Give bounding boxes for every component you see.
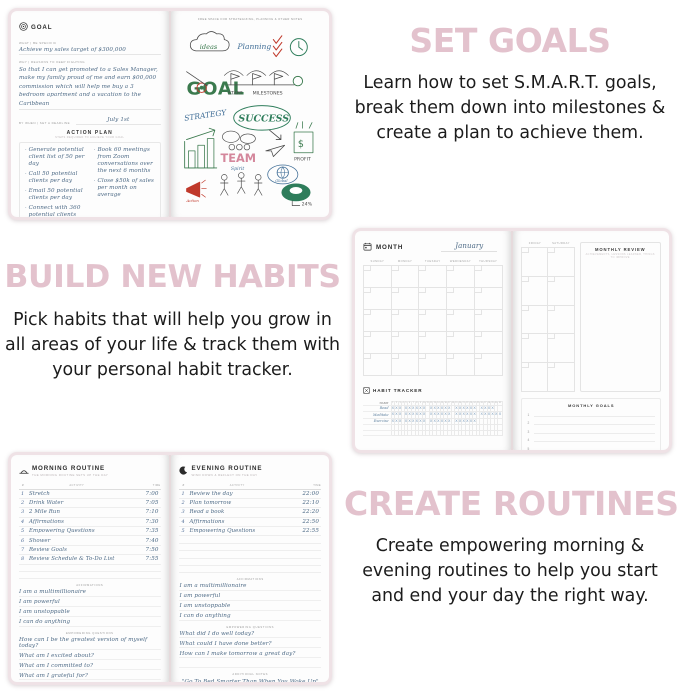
morning-routine-title: MORNING ROUTINE	[32, 465, 108, 472]
routine-time: 22:50	[287, 517, 321, 526]
routine-activity: Review Goals	[27, 545, 127, 554]
routine-activity: Stretch	[27, 489, 127, 498]
routine-number	[179, 551, 187, 558]
routine-number	[179, 558, 187, 565]
calendar-day-cell[interactable]	[447, 354, 475, 376]
habit-tracker-table: HABIT 1 2 3 4 5 6 7 8 9 10 11 12 13 14 1…	[363, 401, 503, 436]
calendar-day-cell[interactable]	[391, 332, 419, 354]
question-item: What did I do well today?	[179, 631, 321, 639]
day-number-box	[475, 354, 482, 359]
affirmation-item: I am powerful	[19, 599, 161, 607]
affirmation-item: I am unstoppable	[179, 603, 321, 611]
day-number-box	[419, 354, 426, 359]
table-row[interactable]	[179, 543, 321, 550]
monthly-goals-title: MONTHLY GOALS	[527, 403, 655, 408]
calendar-day-cell[interactable]	[474, 310, 502, 332]
table-row[interactable]: 2Plan tomorrow22:10	[179, 498, 321, 507]
calendar-day-cell[interactable]	[447, 266, 475, 288]
monthly-review-box[interactable]: MONTHLY REVIEW ACHIEVEMENTS, LESSONS LEA…	[580, 242, 662, 392]
question-item: How can I be the greatest version of mys…	[19, 637, 161, 651]
monthly-review-subtitle: ACHIEVEMENTS, LESSONS LEARNED, THINGS TO…	[585, 253, 657, 259]
routine-time: 22:55	[287, 527, 321, 536]
routine-number	[179, 543, 187, 550]
question-item: What am I excited about?	[19, 653, 161, 661]
habit-tracker-header: HABIT TRACKER	[363, 381, 503, 399]
svg-text:SUCCESS: SUCCESS	[239, 114, 290, 125]
sunrise-icon	[19, 462, 29, 480]
monthly-goals-box: MONTHLY GOALS 1 2 3 4 5 6	[521, 398, 661, 450]
promo-set-goals: SET GOALS Learn how to set S.M.A.R.T. go…	[344, 24, 676, 147]
table-row[interactable]: 32 Mile Run7:10	[19, 508, 161, 517]
morning-routine-header: MORNING ROUTINE THE MORNING ROUTINE SETS…	[19, 462, 161, 480]
day-number-box	[548, 363, 555, 368]
routine-time: 7:35	[127, 527, 161, 536]
routine-time: 7:40	[127, 536, 161, 545]
day-number-box	[364, 266, 371, 271]
day-number-box	[392, 354, 399, 359]
goal-page-title: GOAL	[31, 24, 52, 31]
routine-time	[287, 543, 321, 550]
list-item[interactable]: 5	[527, 446, 655, 451]
evening-routine-page: EVENING ROUTINE WIND DOWN & REFLECT ON T…	[171, 455, 329, 682]
month-page-header: MONTH January	[363, 238, 503, 256]
calendar-day-cell[interactable]	[364, 354, 392, 376]
calendar-day-cell[interactable]	[419, 332, 447, 354]
routine-time: 7:55	[127, 555, 161, 564]
calendar-day-cell[interactable]	[474, 266, 502, 288]
goal-what-field: WHAT | BE SPECIFIC Achieve my sales targ…	[19, 41, 161, 55]
doodle-canvas: ideas Planning GOAL	[179, 23, 321, 209]
routine-activity: Affirmations	[27, 517, 127, 526]
routine-time: 7:05	[127, 498, 161, 507]
svg-text:Spirit: Spirit	[231, 166, 244, 172]
action-item-text: Call 50 potential clients per day	[29, 171, 86, 185]
routine-number: 2	[19, 498, 27, 507]
evening-questions-label: EMPOWERING QUESTIONS	[179, 626, 321, 629]
evening-routine-table: # ACTIVITY TIME 1Review the day22:002Pla…	[179, 484, 321, 573]
routine-number	[19, 564, 27, 571]
goal-planner-spread: GOAL WHAT | BE SPECIFIC Achieve my sales…	[8, 8, 332, 220]
goal-what-label: WHAT | BE SPECIFIC	[19, 41, 161, 45]
day-number-box	[522, 306, 529, 311]
routine-number: 1	[19, 489, 27, 498]
table-row[interactable]: 4Affirmations7:30	[19, 517, 161, 526]
list-item[interactable]: 1	[527, 412, 655, 417]
goal-deadline-label: BY WHEN | SET A DEADLINE	[19, 121, 70, 125]
svg-text:Action: Action	[186, 199, 200, 203]
day-number-box	[419, 266, 426, 271]
action-item: ·Call 50 potential clients per day	[25, 171, 86, 185]
svg-text:Planning: Planning	[237, 42, 272, 51]
doodle-page: FREE SPACE FOR STRATEGIZING, PLANNING & …	[171, 11, 329, 217]
calendar-icon	[363, 238, 372, 256]
calendar-day-cell[interactable]	[548, 248, 574, 277]
calendar-week-row	[364, 354, 503, 376]
calendar-day-cell[interactable]	[391, 266, 419, 288]
calendar-week-row	[522, 305, 574, 334]
calendar-day-cell[interactable]	[391, 310, 419, 332]
goal-why-field: WHY | REASONS TO KEEP FIGHTING So that I…	[19, 60, 161, 110]
routine-time	[287, 536, 321, 543]
table-row[interactable]: 5Empowering Questions7:35	[19, 527, 161, 536]
routine-time: 7:30	[127, 517, 161, 526]
table-row[interactable]: 2Drink Water7:05	[19, 498, 161, 507]
routine-activity	[187, 543, 287, 550]
day-number-box	[419, 310, 426, 315]
table-row[interactable]	[179, 551, 321, 558]
calendar-day-cell[interactable]	[391, 288, 419, 310]
grid-icon	[363, 381, 370, 399]
routine-number	[179, 565, 187, 572]
list-item[interactable]: 3	[527, 429, 655, 434]
calendar-day-cell[interactable]	[522, 276, 548, 305]
day-number-box	[419, 332, 426, 337]
affirmation-item: I am unstoppable	[19, 609, 161, 617]
goal-why-value[interactable]: So that I can get promoted to a Sales Ma…	[19, 66, 161, 110]
question-item: What am I grateful for?	[19, 673, 161, 681]
calendar-day-cell[interactable]	[447, 332, 475, 354]
action-item-text: Close $50k of sales per month on average	[97, 178, 154, 199]
table-row[interactable]: 4Affirmations22:50	[179, 517, 321, 526]
action-item: ·Book 60 meetings from Zoom conversation…	[94, 147, 155, 175]
routine-activity: Empowering Questions	[27, 527, 127, 536]
monthly-planner-spread: MONTH January SUNDAY MONDAY TUESDAY WEDN…	[352, 228, 672, 453]
goal-page: GOAL WHAT | BE SPECIFIC Achieve my sales…	[11, 11, 169, 217]
habit-name	[363, 430, 391, 436]
promo-goals-body: Learn how to set S.M.A.R.T. goals, break…	[344, 71, 676, 147]
calendar-day-cell[interactable]	[548, 276, 574, 305]
routine-time	[287, 551, 321, 558]
routine-activity: 2 Mile Run	[27, 508, 127, 517]
calendar-day-cell[interactable]	[391, 354, 419, 376]
affirmation-item: I am a multimillionaire	[19, 589, 161, 597]
day-number-box	[522, 248, 529, 253]
goal-deadline-field: BY WHEN | SET A DEADLINE July 1st	[19, 115, 161, 125]
question-item: How can I make tomorrow a great day?	[179, 651, 321, 659]
goal-number: 1	[527, 413, 531, 417]
routine-time: 7:50	[127, 545, 161, 554]
day-number-box	[364, 288, 371, 293]
table-row[interactable]	[19, 571, 161, 578]
promo-goals-heading: SET GOALS	[344, 24, 676, 57]
calendar-week-row	[364, 332, 503, 354]
day-number-box	[548, 277, 555, 282]
habit-tracker-title: HABIT TRACKER	[373, 388, 422, 393]
table-row[interactable]	[19, 564, 161, 571]
calendar-day-cell[interactable]	[548, 334, 574, 363]
table-row[interactable]	[179, 565, 321, 572]
month-value[interactable]: January	[441, 242, 497, 252]
table-row[interactable]: 7Review Goals7:50	[19, 545, 161, 554]
routine-number: 7	[19, 545, 27, 554]
affirmation-item: I can do anything	[19, 619, 161, 627]
morning-routine-subtitle: THE MORNING ROUTINE SETS UP THE DAY	[32, 473, 108, 477]
doodle-page-header: FREE SPACE FOR STRATEGIZING, PLANNING & …	[179, 18, 321, 21]
action-plan-column-left: ·Generate potential client list of 50 pe…	[25, 147, 86, 217]
day-number-box	[392, 310, 399, 315]
day-number-box	[548, 334, 555, 339]
calendar-day-cell[interactable]	[364, 266, 392, 288]
goal-number: 4	[527, 438, 531, 442]
goal-deadline-value[interactable]: July 1st	[76, 117, 160, 125]
calendar-day-cell[interactable]	[522, 334, 548, 363]
calendar-day-cell[interactable]	[419, 354, 447, 376]
calendar-week-row	[522, 276, 574, 305]
morning-questions-label: EMPOWERING QUESTIONS	[19, 632, 161, 635]
goal-input-line[interactable]	[534, 446, 655, 451]
routine-time	[127, 571, 161, 578]
day-number-box	[392, 288, 399, 293]
question-item-blank	[179, 661, 321, 668]
calendar-week-row	[364, 310, 503, 332]
day-number-box	[447, 310, 454, 315]
action-item-text: Email 50 potential clients per day	[29, 188, 86, 202]
promo-habits-heading: BUILD NEW HABITS	[4, 262, 341, 294]
calendar-week-row	[364, 288, 503, 310]
evening-routine-body: 1Review the day22:002Plan tomorrow22:103…	[179, 489, 321, 573]
routine-activity	[27, 571, 127, 578]
table-row[interactable]	[179, 536, 321, 543]
day-number-box	[548, 248, 555, 253]
routine-activity	[187, 565, 287, 572]
list-item[interactable]: 4	[527, 437, 655, 442]
calendar-day-cell[interactable]	[419, 288, 447, 310]
bullet-icon: ·	[25, 147, 27, 168]
affirmation-item: I am a multimillionaire	[179, 583, 321, 591]
action-item-text: Connect with 360 potential clients over …	[29, 205, 86, 217]
bullet-icon: ·	[25, 188, 27, 202]
routine-number	[179, 536, 187, 543]
calendar-day-cell[interactable]	[522, 363, 548, 392]
affirmation-item: I am powerful	[179, 593, 321, 601]
routine-number: 4	[179, 517, 187, 526]
calendar-day-cell[interactable]	[474, 354, 502, 376]
evening-routine-subtitle: WIND DOWN & REFLECT ON THE DAY	[191, 473, 262, 477]
routine-number: 6	[19, 536, 27, 545]
action-plan-subtitle: STEPS REQUIRED TO ACHIEVE YOUR GOAL	[19, 136, 161, 139]
day-number-box	[447, 354, 454, 359]
calendar-grid-left: SUNDAY MONDAY TUESDAY WEDNESDAY THURSDAY	[363, 260, 503, 376]
day-number-box	[447, 288, 454, 293]
day-number-box	[447, 332, 454, 337]
routine-number: 8	[19, 555, 27, 564]
calendar-week-row	[364, 266, 503, 288]
day-number-box	[475, 310, 482, 315]
calendar-day-cell[interactable]	[364, 310, 392, 332]
list-item[interactable]: 2	[527, 420, 655, 425]
goal-number: 2	[527, 421, 531, 425]
calendar-day-cell[interactable]	[474, 332, 502, 354]
routine-number: 1	[179, 489, 187, 498]
routine-number: 5	[19, 527, 27, 536]
action-plan-box: ·Generate potential client list of 50 pe…	[19, 142, 161, 217]
table-row[interactable]: 3Read a book22:20	[179, 508, 321, 517]
routine-number	[19, 571, 27, 578]
svg-text:TEAM: TEAM	[221, 151, 256, 165]
evening-notes-label: ADDITIONAL NOTES	[179, 673, 321, 676]
evening-note: "Go To Bed Smarter Than When You Woke Up…	[179, 679, 321, 682]
goal-input-line[interactable]	[534, 420, 655, 425]
svg-text:24%: 24%	[302, 202, 313, 208]
table-row[interactable]: 1Review the day22:00	[179, 489, 321, 498]
svg-text:PROFIT: PROFIT	[295, 156, 312, 162]
morning-routine-page: MORNING ROUTINE THE MORNING ROUTINE SETS…	[11, 455, 169, 682]
day-number-box	[522, 277, 529, 282]
routine-activity: Empowering Questions	[187, 527, 287, 536]
evening-routine-header: EVENING ROUTINE WIND DOWN & REFLECT ON T…	[179, 462, 321, 480]
goal-input-line[interactable]	[534, 429, 655, 434]
calendar-day-cell[interactable]	[474, 288, 502, 310]
promo-create-routines: CREATE ROUTINES Create empowering mornin…	[344, 487, 676, 610]
calendar-day-cell[interactable]	[364, 332, 392, 354]
evening-affirmations-label: AFFIRMATIONS	[179, 578, 321, 581]
table-row[interactable]: 8Review Schedule & To-Do List7:55	[19, 555, 161, 564]
svg-text:MILESTONES: MILESTONES	[253, 90, 283, 96]
svg-text:START: START	[229, 90, 244, 96]
calendar-grid-right: FRIDAY SATURDAY	[521, 242, 574, 392]
routine-time: 22:00	[287, 489, 321, 498]
routine-activity	[187, 558, 287, 565]
calendar-day-cell[interactable]	[522, 305, 548, 334]
svg-text:STRATEGY: STRATEGY	[184, 108, 228, 123]
calendar-week-row	[522, 334, 574, 363]
calendar-day-cell[interactable]	[364, 288, 392, 310]
habit-day-cell[interactable]	[498, 430, 502, 436]
calendar-day-cell[interactable]	[548, 363, 574, 392]
routine-time	[287, 558, 321, 565]
routine-number: 3	[19, 508, 27, 517]
note-quote-text: "Go To Bed Smarter Than When You Woke Up…	[179, 679, 321, 682]
calendar-day-cell[interactable]	[419, 310, 447, 332]
table-row[interactable]: 6Shower7:40	[19, 536, 161, 545]
action-item: ·Connect with 360 potential clients over…	[25, 205, 86, 217]
routine-activity	[187, 536, 287, 543]
calendar-day-cell[interactable]	[548, 305, 574, 334]
routine-planner-spread: MORNING ROUTINE THE MORNING ROUTINE SETS…	[8, 452, 332, 685]
routine-time: 22:20	[287, 508, 321, 517]
action-plan-column-right: ·Book 60 meetings from Zoom conversation…	[94, 147, 155, 217]
calendar-week-row	[522, 248, 574, 277]
routine-activity: Plan tomorrow	[187, 498, 287, 507]
routine-activity: Affirmations	[187, 517, 287, 526]
month-page-title: MONTH	[376, 244, 403, 251]
habit-tracker-body: ReadXXXXXXXXXXXXXXXXXXXXXXXXXMeditateXXX…	[363, 405, 502, 436]
bullet-icon: ·	[94, 178, 96, 199]
bullet-icon: ·	[25, 171, 27, 185]
routine-activity: Read a book	[187, 508, 287, 517]
routine-time: 7:10	[127, 508, 161, 517]
calendar-week-row	[522, 363, 574, 392]
table-row[interactable]: 5Empowering Questions22:55	[179, 527, 321, 536]
action-item-text: Generate potential client list of 50 per…	[29, 147, 86, 168]
month-review-page: FRIDAY SATURDAY	[513, 231, 669, 450]
bullet-icon: ·	[94, 147, 96, 175]
goal-number: 3	[527, 430, 531, 434]
routine-time	[127, 564, 161, 571]
svg-text:Global: Global	[276, 179, 289, 183]
goal-input-line[interactable]	[534, 437, 655, 442]
day-number-box	[364, 332, 371, 337]
affirmation-item: I can do anything	[179, 613, 321, 621]
routine-number: 2	[179, 498, 187, 507]
day-number-box	[392, 266, 399, 271]
routine-activity: Review the day	[187, 489, 287, 498]
calendar-day-cell[interactable]	[522, 248, 548, 277]
routine-activity	[187, 551, 287, 558]
routine-number: 5	[179, 527, 187, 536]
calendar-day-cell[interactable]	[447, 288, 475, 310]
routine-activity: Shower	[27, 536, 127, 545]
day-number-box	[548, 306, 555, 311]
month-page: MONTH January SUNDAY MONDAY TUESDAY WEDN…	[355, 231, 511, 450]
day-number-box	[522, 334, 529, 339]
routine-time	[287, 565, 321, 572]
bullet-icon: ·	[25, 205, 27, 217]
routine-activity: Review Schedule & To-Do List	[27, 555, 127, 564]
question-item: What could I have done better?	[179, 641, 321, 649]
promo-build-habits: BUILD NEW HABITS Pick habits that will h…	[4, 262, 341, 383]
routine-activity: Drink Water	[27, 498, 127, 507]
day-number-box	[475, 266, 482, 271]
day-number-box	[419, 288, 426, 293]
action-item-text: Book 60 meetings from Zoom conversations…	[97, 147, 154, 175]
promo-habits-body: Pick habits that will help you grow in a…	[4, 308, 341, 384]
morning-routine-table: # ACTIVITY TIME 1Stretch7:002Drink Water…	[19, 484, 161, 579]
promo-routines-body: Create empowering morning & evening rout…	[344, 534, 676, 610]
calendar-day-cell[interactable]	[447, 310, 475, 332]
goal-page-header: GOAL	[19, 18, 161, 36]
action-item: ·Email 50 potential clients per day	[25, 188, 86, 202]
day-number-box	[522, 363, 529, 368]
table-row[interactable]: 1Stretch7:00	[19, 489, 161, 498]
routine-time: 7:00	[127, 489, 161, 498]
routine-number: 3	[179, 508, 187, 517]
morning-affirmations-label: AFFIRMATIONS	[19, 584, 161, 587]
evening-routine-title: EVENING ROUTINE	[191, 465, 262, 472]
routine-activity	[27, 564, 127, 571]
goal-what-value[interactable]: Achieve my sales target of $300,000	[19, 47, 161, 55]
habit-row[interactable]	[363, 430, 502, 436]
table-row[interactable]	[179, 558, 321, 565]
day-number-box	[392, 332, 399, 337]
goal-input-line[interactable]	[534, 412, 655, 417]
action-item: ·Close $50k of sales per month on averag…	[94, 178, 155, 199]
day-number-box	[447, 266, 454, 271]
routine-time: 22:10	[287, 498, 321, 507]
goal-why-label: WHY | REASONS TO KEEP FIGHTING	[19, 60, 161, 64]
day-number-box	[364, 310, 371, 315]
morning-routine-body: 1Stretch7:002Drink Water7:0532 Mile Run7…	[19, 489, 161, 579]
day-number-box	[364, 354, 371, 359]
promo-routines-heading: CREATE ROUTINES	[344, 487, 676, 520]
target-icon	[19, 18, 28, 36]
routine-number: 4	[19, 517, 27, 526]
calendar-day-cell[interactable]	[419, 266, 447, 288]
svg-text:$: $	[298, 139, 304, 150]
moon-icon	[179, 462, 188, 480]
day-number-box	[475, 332, 482, 337]
action-item: ·Generate potential client list of 50 pe…	[25, 147, 86, 168]
monthly-review-title: MONTHLY REVIEW	[585, 247, 657, 252]
goal-number: 5	[527, 447, 531, 451]
svg-text:ideas: ideas	[200, 43, 218, 51]
day-number-box	[475, 288, 482, 293]
question-item: What am I committed to?	[19, 663, 161, 671]
